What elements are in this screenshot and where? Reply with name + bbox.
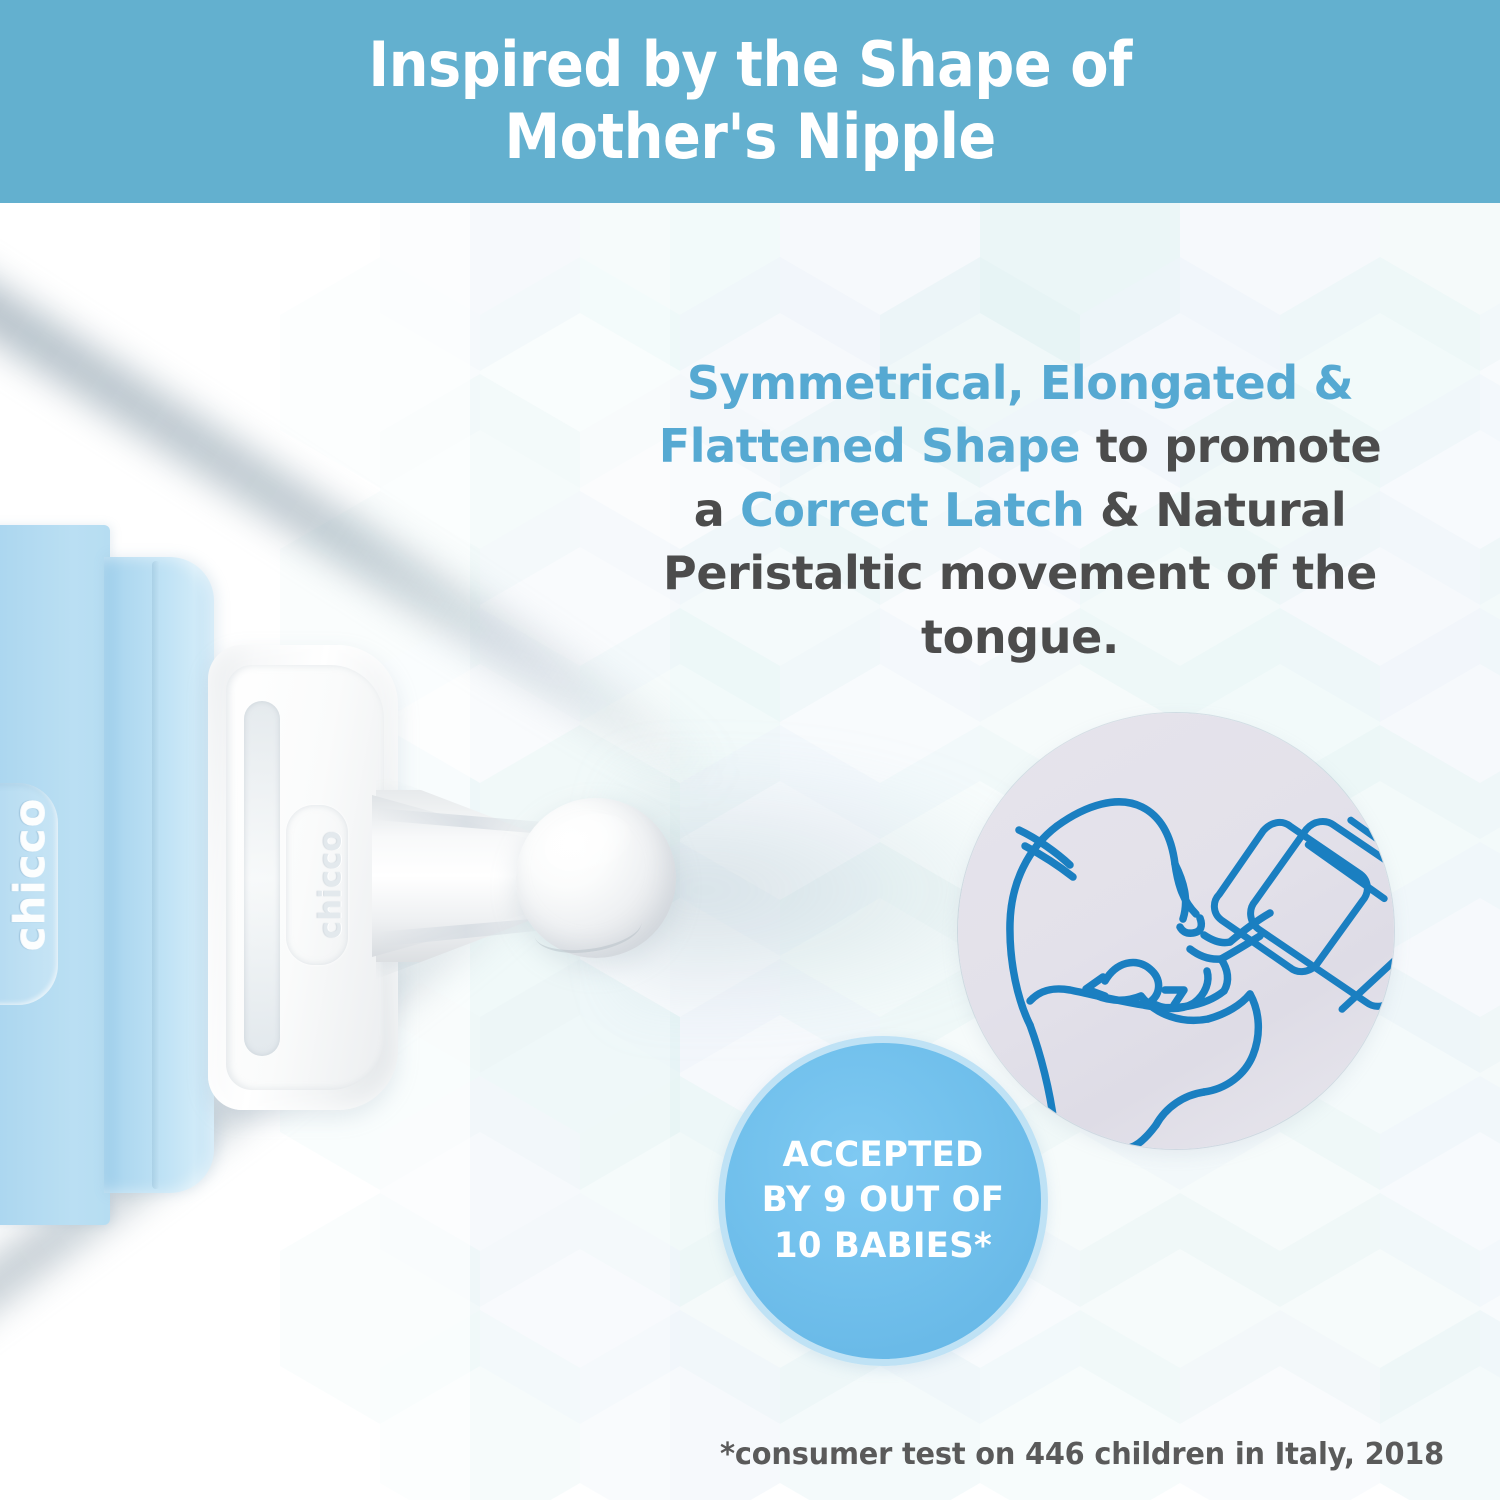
product-photo-bottle-and-nipple: chicco chicco xyxy=(0,505,706,1245)
poster-canvas: chicco chicco Inspired by the Shape of M… xyxy=(0,0,1500,1500)
nipple-chicco-brand-emboss: chicco xyxy=(314,820,349,950)
header-banner: Inspired by the Shape of Mother's Nipple xyxy=(0,0,1500,203)
accepted-badge: ACCEPTED BY 9 OUT OF 10 BABIES* xyxy=(718,1036,1048,1366)
feeding-illustration-circle xyxy=(958,713,1394,1149)
nipple-anti-colic-vent xyxy=(244,701,280,1056)
baby-bottle-feeding-icon xyxy=(958,713,1394,1149)
accepted-badge-text: ACCEPTED BY 9 OUT OF 10 BABIES* xyxy=(762,1133,1005,1270)
bottle-ring-seam xyxy=(152,561,160,1189)
banner-title: Inspired by the Shape of Mother's Nipple xyxy=(368,29,1132,173)
chicco-brand-emboss: chicco xyxy=(5,780,54,970)
copy-segment-highlight-2: Correct Latch xyxy=(740,483,1084,537)
marketing-copy: Symmetrical, Elongated & Flattened Shape… xyxy=(640,352,1400,669)
footnote-disclaimer: *consumer test on 446 children in Italy,… xyxy=(58,1437,1444,1472)
